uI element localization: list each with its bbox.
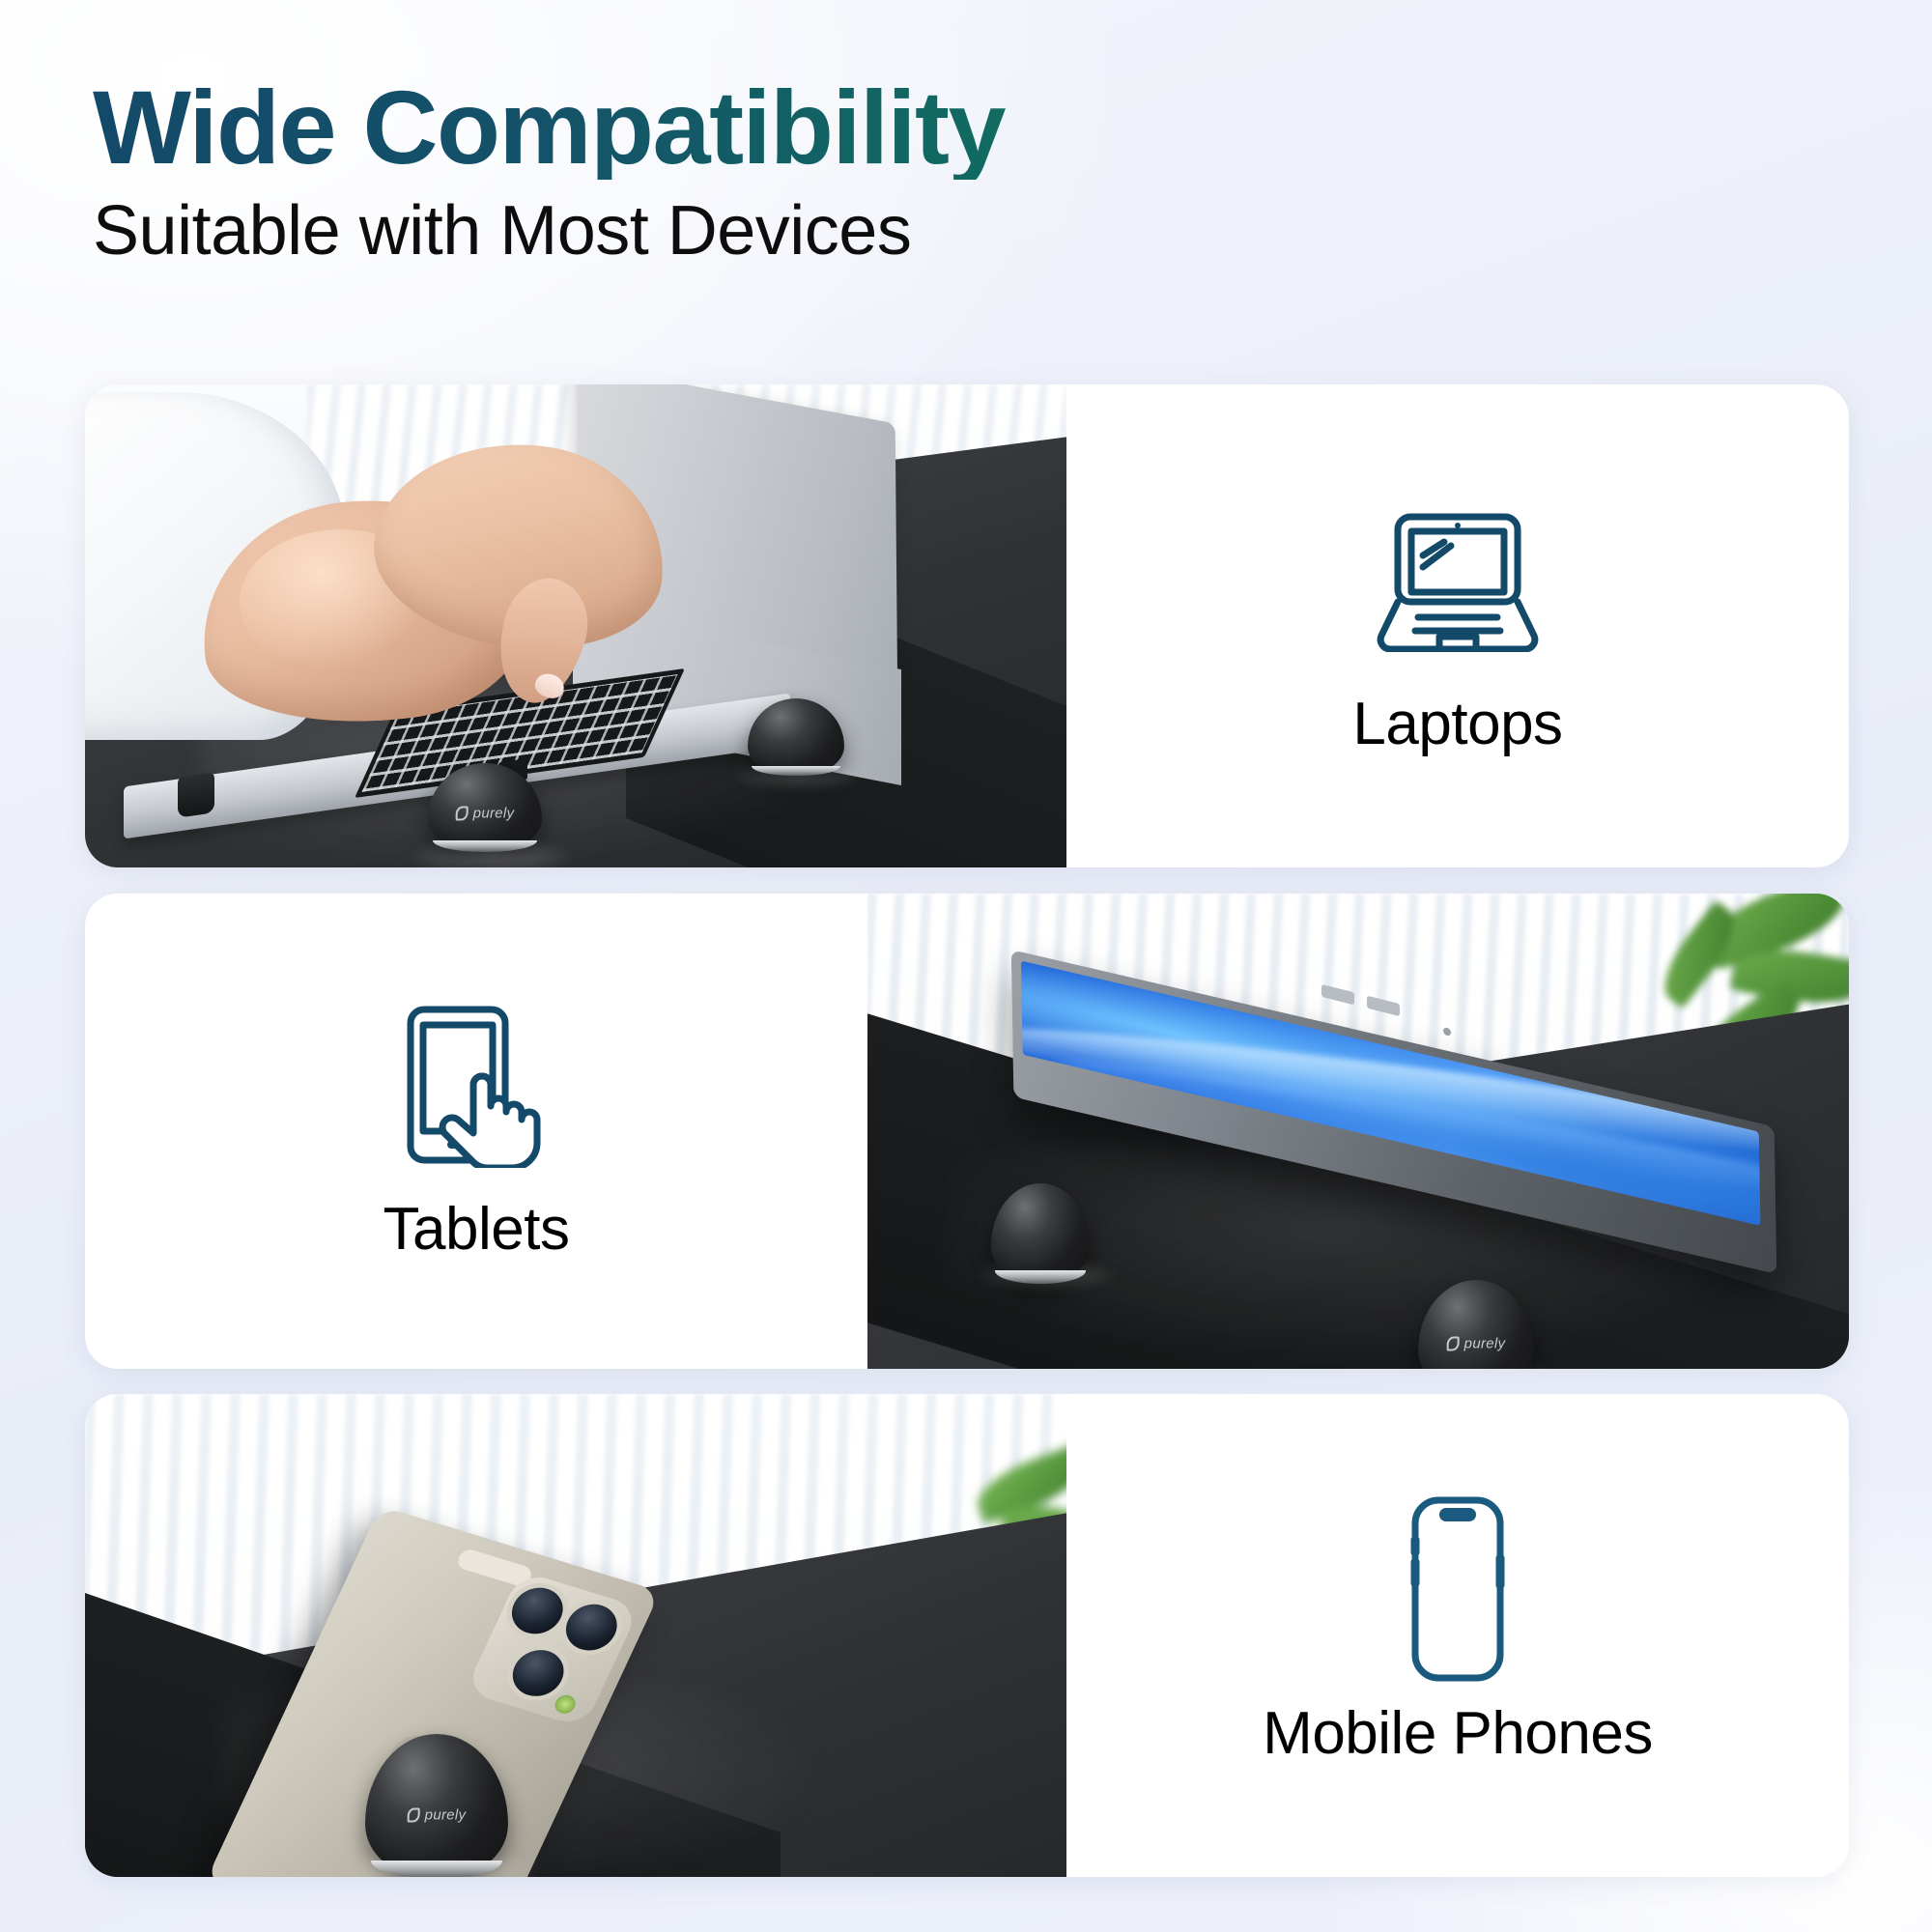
brand-logo-laptop: purely xyxy=(456,805,515,821)
card-info-mobile-phones: Mobile Phones xyxy=(1066,1394,1849,1877)
camera-lens xyxy=(558,1599,625,1657)
brand-logo-tablet: purely xyxy=(1447,1336,1506,1352)
tablet-touch-icon xyxy=(384,1000,568,1170)
brand-name: purely xyxy=(473,805,515,821)
laptop-rear-foot xyxy=(178,772,214,817)
product-photo-phone: purely xyxy=(85,1394,1066,1877)
card-laptops: purely Laptops xyxy=(85,384,1849,867)
brand-name: purely xyxy=(1464,1336,1506,1352)
device-label-tablets: Tablets xyxy=(384,1195,570,1264)
camera-flash xyxy=(552,1692,579,1716)
card-mobile-phones: purely Mobile Phones xyxy=(85,1394,1849,1877)
card-info-laptops: Laptops xyxy=(1066,384,1849,867)
infographic-page: Wide Compatibility Suitable with Most De… xyxy=(0,0,1932,1932)
leaf-icon xyxy=(1447,1337,1460,1351)
leaf-icon xyxy=(456,806,469,820)
camera-lens xyxy=(504,1644,571,1702)
camera-lens xyxy=(504,1581,571,1639)
card-tablets: Tablets xyxy=(85,894,1849,1369)
header: Wide Compatibility Suitable with Most De… xyxy=(93,75,1832,269)
card-info-tablets: Tablets xyxy=(85,894,867,1369)
device-label-mobile-phones: Mobile Phones xyxy=(1263,1699,1653,1768)
device-label-laptops: Laptops xyxy=(1352,690,1562,758)
brand-logo-phone: purely xyxy=(408,1807,467,1824)
page-subtitle: Suitable with Most Devices xyxy=(93,195,1832,269)
mobile-phone-icon xyxy=(1366,1504,1549,1674)
page-title: Wide Compatibility xyxy=(93,75,1832,180)
laptop-icon xyxy=(1366,495,1549,665)
brand-name: purely xyxy=(425,1807,467,1824)
product-photo-laptop: purely xyxy=(85,384,1066,867)
product-photo-tablet: purely xyxy=(867,894,1849,1369)
leaf-icon xyxy=(408,1808,420,1823)
